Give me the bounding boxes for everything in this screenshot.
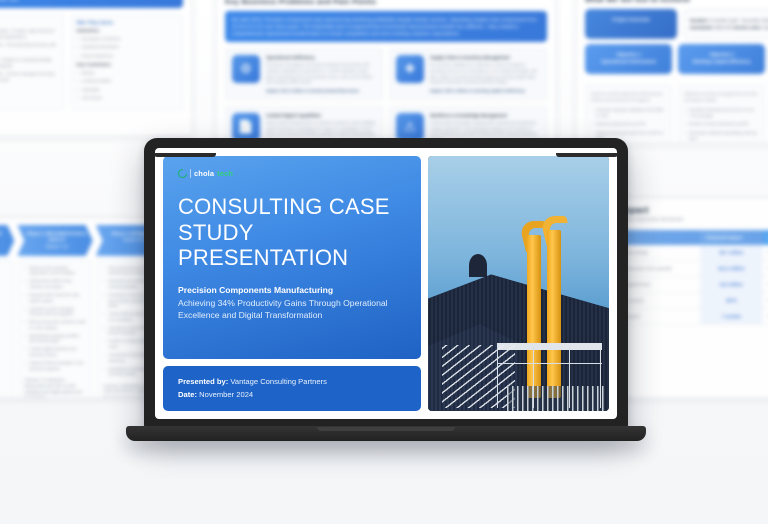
objective-2-body: Optimize inventory management and free u… [678, 84, 765, 144]
key-customers-subheading: Key Customers: [77, 62, 178, 67]
card-body: Production throughput 23% below industry… [266, 62, 376, 85]
list-item: Heavy Equipment [77, 53, 178, 59]
cell-extra: Sustained year over year [763, 245, 768, 261]
date-label: Date: [178, 390, 197, 399]
laptop-screen: chola tech CONSULTING CASE STUDY PRESENT… [155, 148, 617, 419]
cell-impact: 487% [700, 293, 762, 309]
cell-extra: Quality defects down [763, 309, 768, 325]
list-item: Reduce setup times by 40% [591, 121, 666, 127]
cell-impact: $13 million [700, 277, 762, 293]
phase-chevron: Phase 3: IMPLEMENTATION & DEPLOY Weeks 7… [17, 225, 92, 256]
background-doc-objectives: What We Set Out to Achieve Project Overv… [576, 0, 768, 144]
project-overview-pill: Project Overview [585, 9, 677, 39]
what-they-do-heading: What They Do: [0, 20, 58, 25]
fact-value: Operations [763, 25, 768, 30]
date-line: Date: November 2024 [178, 389, 406, 401]
card-impact: Impact: $15.2 million in working capital… [430, 88, 540, 93]
slide-left-column: chola tech CONSULTING CASE STUDY PRESENT… [163, 156, 421, 411]
card-heading: Workforce & Knowledge Management [430, 113, 540, 118]
photo-post [569, 347, 570, 408]
list-item: Increase inventory turns from 4.1x to 7.… [684, 107, 759, 119]
phase-outcome: Outcome: 41 milestones implemented with … [24, 378, 86, 398]
problems-banner: By early 2023, Precision Components was … [225, 11, 547, 42]
list-item [0, 274, 7, 280]
column-header: Financial Impact [700, 230, 762, 245]
problem-card: 📄 Limited Digital Capabilities Paper-bas… [225, 106, 383, 142]
supply-chain-icon: ❖ [396, 55, 424, 83]
presented-by-line: Presented by: Vantage Consulting Partner… [178, 376, 406, 388]
slide-subtitle-text: Achieving 34% Productivity Gains Through… [178, 297, 406, 321]
list-item: Reduce excess inventory by 50% [684, 121, 759, 127]
list-item: Deployed MES shop-floor data capture sys… [24, 293, 86, 304]
project-facts: Duration: 9 months (April - December 202… [683, 9, 768, 39]
slide-footer: Presented by: Vantage Consulting Partner… [163, 366, 421, 411]
card-heading: Limited Digital Capabilities [266, 113, 376, 118]
list-item [0, 290, 7, 296]
card-body: Paper-based tracking with no customer po… [266, 120, 376, 137]
photo-handrail [497, 363, 602, 364]
camera-notch-icon [347, 138, 425, 148]
cell-extra: Customer satisfaction up [763, 277, 768, 293]
background-doc-company-profile: s Inc. | 1989 | Cleveland, Ohio What The… [0, 0, 192, 136]
leaf-swoosh-icon [176, 167, 189, 180]
phase-column: Rolled out 5S workplace organization acr… [18, 260, 92, 398]
slide-title: CONSULTING CASE STUDY PRESENTATION [178, 194, 406, 271]
list-item: Launched vendor-managed inventory with t… [24, 307, 86, 318]
list-item: Increase machine utilization from 58% to… [591, 107, 666, 119]
fact-value: 9 months (April - December 2023) [710, 18, 768, 23]
list-item: Engineering Support - Design for manufac… [0, 57, 58, 69]
presented-by-value: Vantage Consulting Partners [230, 377, 327, 386]
fact-label: Investment: [690, 25, 714, 30]
document-icon: 📄 [232, 113, 260, 141]
problem-card-grid: ⚙ Operational Inefficiency Production th… [225, 48, 547, 142]
fact-value: $485,000 [715, 25, 732, 30]
card-body: No real-time visibility into materials o… [430, 62, 540, 85]
photo-post [533, 347, 534, 408]
what-they-do-column: What They Do: CNC Precision Machining - … [0, 14, 64, 110]
photo-post [497, 347, 498, 408]
list-item [0, 282, 7, 288]
list-item: Decrease material expediting costs by 60… [684, 130, 759, 142]
photo-post [600, 347, 601, 408]
cell-impact: 7 months [700, 309, 762, 325]
list-item: Built and launched customer portal for o… [24, 320, 86, 331]
problem-card: ⚠ Workforce & Knowledge Management Criti… [389, 106, 547, 142]
phase-list [0, 266, 7, 304]
fact-label: Duration: [690, 18, 709, 23]
what-they-do-list: CNC Precision Machining - Complex, tight… [0, 28, 58, 84]
phase-list: Rolled out 5S workplace organization acr… [24, 266, 86, 372]
card-heading: Supply Chain & Inventory Management [430, 55, 540, 60]
list-item: Assembly & Integration - Sub-assembly se… [0, 42, 58, 54]
list-item: John Deere [77, 95, 178, 101]
objective-1-pill: Objective 1 Operational Performance [585, 44, 672, 73]
laptop-foot-left [154, 153, 216, 157]
card-heading: Operational Inefficiency [266, 55, 376, 60]
company-header-band: s Inc. | 1989 | Cleveland, Ohio [0, 0, 183, 8]
industries-subheading: Industries: [77, 28, 178, 33]
objective-lead: Improve overall equipment effectiveness … [591, 91, 666, 103]
photo-dome [469, 254, 487, 277]
cell-impact: $12.3 million [700, 261, 762, 277]
laptop-base [126, 426, 646, 441]
laptop-foot-right [556, 153, 618, 157]
objective-lead: Optimize inventory management and free u… [684, 91, 759, 103]
objective-2-pill: Objective 2 Working Capital Efficiency [678, 44, 765, 73]
background-doc-problems: Key Business Problems and Pain Points By… [216, 0, 556, 142]
list-item [0, 266, 7, 272]
list-item: Standardized quoting workflow with prici… [24, 334, 86, 345]
screenshot-stage: s Inc. | 1989 | Cleveland, Ohio What The… [0, 0, 768, 524]
problem-card: ⚙ Operational Inefficiency Production th… [225, 48, 383, 100]
fact-label: Service Lines: [733, 25, 761, 30]
photo-duct [547, 230, 561, 398]
list-item: Implemented SMED setup reduction techniq… [24, 279, 86, 290]
phase-column [0, 260, 13, 398]
column-header: Additional Benefit [763, 230, 768, 245]
who-they-serve-heading: Who They Serve: [77, 20, 178, 25]
who-they-serve-column: Who They Serve: Industries: Aerospace & … [71, 14, 184, 110]
problems-title: Key Business Problems and Pain Points [225, 0, 547, 6]
list-item: Rolled out 5S workplace organization acr… [24, 266, 86, 277]
laptop-lid: chola tech CONSULTING CASE STUDY PRESENT… [144, 138, 628, 430]
cell-impact: $8.7 million [700, 245, 762, 261]
list-item: CNC Precision Machining - Complex, tight… [0, 28, 58, 40]
list-item: Industrial Automation [77, 44, 178, 50]
warning-icon: ⚠ [396, 113, 424, 141]
photo-grating [507, 386, 605, 412]
list-item [0, 298, 7, 304]
photo-stairs [442, 345, 515, 409]
logo-divider [190, 169, 191, 178]
brand-logo[interactable]: chola tech [178, 169, 406, 178]
objectives-title: What We Set Out to Achieve [585, 0, 768, 4]
key-customers-list: Boeing Lockheed Martin Caterpillar John … [77, 70, 178, 102]
cell-extra: Employee engagement up [763, 293, 768, 309]
logo-word-accent: tech [217, 169, 233, 178]
phase-chevron: Phase 2: ASSESSMENT Weeks 1-6 [0, 225, 14, 256]
list-item: Aerospace & Defense [77, 36, 178, 42]
cell-extra: On-time delivery up [763, 261, 768, 277]
title-slide-panel: chola tech CONSULTING CASE STUDY PRESENT… [163, 156, 421, 359]
list-item: Created digital standard work instructio… [24, 347, 86, 358]
card-impact: Impact: $12.3 million in annual producti… [266, 88, 376, 93]
list-item: Captured tribal knowledge in new structu… [24, 361, 86, 372]
list-item: Inventory Management - Vendor-managed in… [0, 71, 58, 83]
list-item: Caterpillar [77, 87, 178, 93]
list-item: Lockheed Martin [77, 78, 178, 84]
logo-word-primary: chola [194, 169, 214, 178]
slide-hero-photo [428, 156, 609, 411]
objective-1-body: Improve overall equipment effectiveness … [585, 84, 672, 144]
slide-subtitle-strong: Precision Components Manufacturing [178, 285, 406, 295]
presented-by-label: Presented by: [178, 377, 228, 386]
date-value: November 2024 [199, 390, 253, 399]
laptop-mockup: chola tech CONSULTING CASE STUDY PRESENT… [126, 138, 646, 438]
industries-list: Aerospace & Defense Industrial Automatio… [77, 36, 178, 59]
problem-card: ❖ Supply Chain & Inventory Management No… [389, 48, 547, 100]
list-item: Boeing [77, 70, 178, 76]
gear-icon: ⚙ [232, 55, 260, 83]
objective-bullets: Increase inventory turns from 4.1x to 7.… [684, 107, 759, 144]
